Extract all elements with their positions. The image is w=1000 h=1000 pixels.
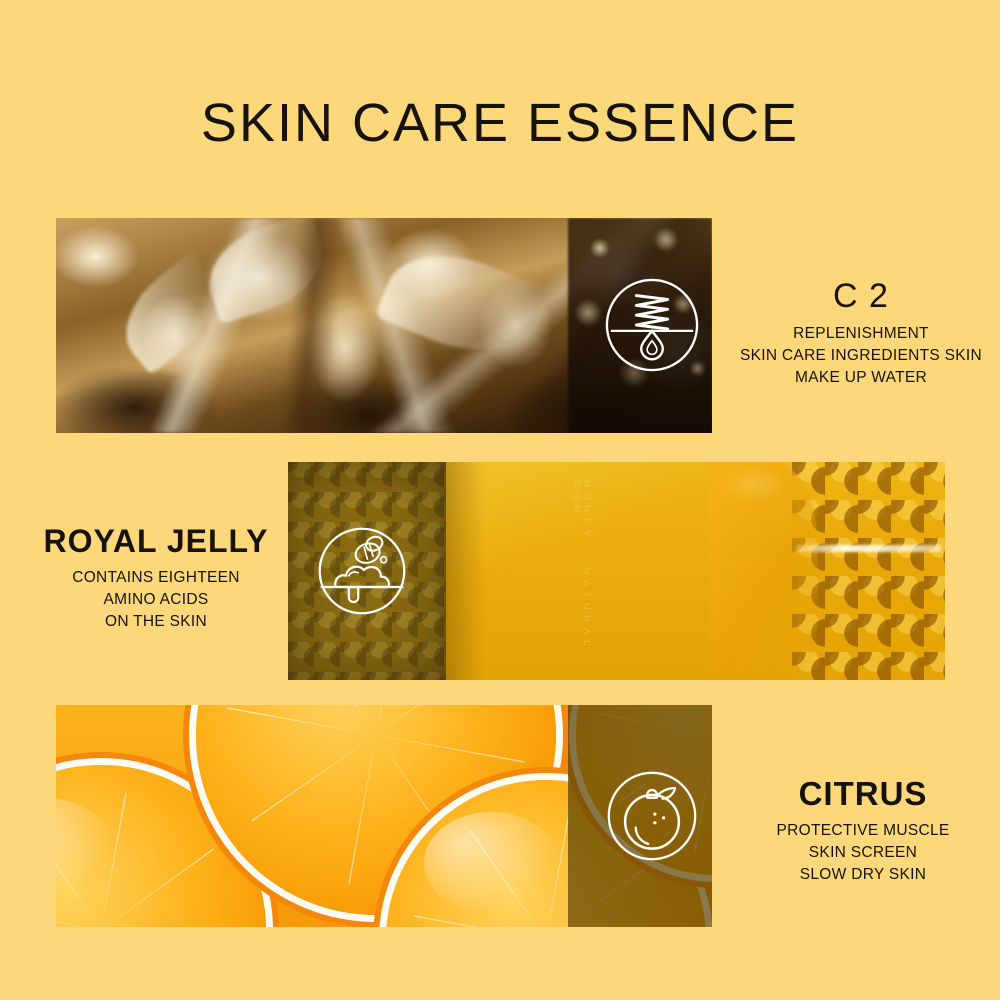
section-body-citrus: PROTECTIVE MUSCLE SKIN SCREEN SLOW DRY S… (738, 820, 988, 886)
bee-honey-icon (315, 524, 409, 618)
section-body-c2: REPLENISHMENT SKIN CARE INGREDIENTS SKIN… (735, 323, 987, 389)
section-heading-citrus: CITRUS (738, 776, 988, 812)
honey-comb-photo (708, 462, 945, 680)
section-line: MAKE UP WATER (735, 367, 987, 389)
skincare-poster: SKIN CARE ESSENCE C 2 REPLENISHMENT SKIN… (0, 0, 1000, 1000)
section-heading-royal-jelly: ROYAL JELLY (20, 524, 292, 559)
section-line: SKIN SCREEN (738, 842, 988, 864)
section-heading-c2: C 2 (735, 278, 987, 315)
section-line: CONTAINS EIGHTEEN (20, 567, 292, 589)
section-text-citrus: CITRUS PROTECTIVE MUSCLE SKIN SCREEN SLO… (738, 776, 988, 886)
honey-glare (796, 545, 941, 552)
section-line: REPLENISHMENT (735, 323, 987, 345)
section-image-c2 (56, 218, 712, 433)
page-title: SKIN CARE ESSENCE (0, 92, 1000, 154)
honey-drip (708, 462, 818, 680)
section-text-royal-jelly: ROYAL JELLY CONTAINS EIGHTEEN AMINO ACID… (20, 524, 292, 633)
section-text-c2: C 2 REPLENISHMENT SKIN CARE INGREDIENTS … (735, 278, 987, 389)
orange-fruit-icon (604, 768, 700, 864)
section-line: ON THE SKIN (20, 611, 292, 633)
section-line: SKIN CARE INGREDIENTS SKIN (735, 345, 987, 367)
serum-dropper-icon (603, 276, 701, 374)
section-image-royal-jelly: HONEY · NATURAL · COM (288, 462, 945, 680)
section-image-citrus (56, 705, 712, 927)
section-body-royal-jelly: CONTAINS EIGHTEEN AMINO ACIDS ON THE SKI… (20, 567, 292, 633)
section-line: AMINO ACIDS (20, 589, 292, 611)
section-line: SLOW DRY SKIN (738, 864, 988, 886)
section-line: PROTECTIVE MUSCLE (738, 820, 988, 842)
watermark-text: HONEY · NATURAL · COM (572, 480, 592, 680)
